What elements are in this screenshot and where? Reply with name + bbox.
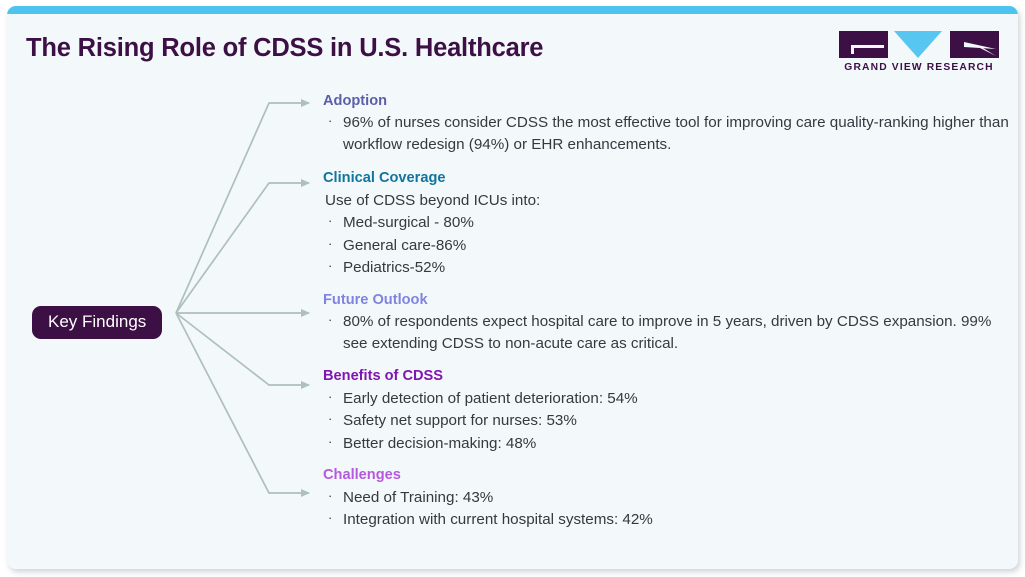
section-benefits-of-cdss: Benefits of CDSS · Early detection of pa… [323,367,1013,454]
list-item: · General care-86% [323,235,1013,257]
connector-adoption [176,103,309,313]
page-title: The Rising Role of CDSS in U.S. Healthca… [26,34,543,63]
bullet-dot-icon: · [328,487,332,505]
list-item: · Need of Training: 43% [323,487,1013,509]
bullet-dot-icon: · [328,388,332,406]
logo-wordmark: GRAND VIEW RESEARCH [839,62,999,73]
bullets-challenges: · Need of Training: 43% · Integration wi… [323,487,1013,531]
accent-top-bar [7,6,1018,14]
logo-r-icon [950,31,999,58]
section-intro-clinical-coverage: Use of CDSS beyond ICUs into: [323,190,1013,212]
bullet-dot-icon: · [328,433,332,451]
section-challenges: Challenges · Need of Training: 43% · Int… [323,466,1013,530]
list-item-text: Need of Training: 43% [343,489,493,506]
bullet-dot-icon: · [328,257,332,275]
section-clinical-coverage: Clinical Coverage Use of CDSS beyond ICU… [323,169,1013,279]
list-item: · Better decision-making: 48% [323,433,1013,455]
list-item: · Safety net support for nurses: 53% [323,410,1013,432]
list-item: · Early detection of patient deteriorati… [323,388,1013,410]
list-item: · 80% of respondents expect hospital car… [323,311,1013,354]
section-heading-clinical-coverage: Clinical Coverage [323,169,1013,187]
list-item: · Pediatrics-52% [323,257,1013,279]
bullet-dot-icon: · [328,311,332,329]
list-item-text: 80% of respondents expect hospital care … [343,313,991,352]
section-heading-adoption: Adoption [323,92,1013,110]
bullets-adoption: · 96% of nurses consider CDSS the most e… [323,112,1013,155]
list-item-text: Integration with current hospital system… [343,511,653,528]
section-heading-future-outlook: Future Outlook [323,291,1013,309]
section-adoption: Adoption · 96% of nurses consider CDSS t… [323,92,1013,155]
list-item-text: 96% of nurses consider CDSS the most eff… [343,114,1009,153]
list-item-text: Safety net support for nurses: 53% [343,412,577,429]
connector-challenges [176,313,309,493]
list-item: · Integration with current hospital syst… [323,509,1013,531]
connector-clinical [176,183,309,313]
bullet-dot-icon: · [328,509,332,527]
bullet-dot-icon: · [328,235,332,253]
section-heading-challenges: Challenges [323,466,1013,484]
list-item-text: General care-86% [343,237,466,254]
list-item-text: Better decision-making: 48% [343,435,536,452]
logo-g-icon [839,31,888,58]
list-item: · 96% of nurses consider CDSS the most e… [323,112,1013,155]
bullets-benefits-of-cdss: · Early detection of patient deteriorati… [323,388,1013,455]
logo-v-icon [894,31,942,58]
bullets-clinical-coverage: · Med-surgical - 80% · General care-86% … [323,212,1013,279]
bullet-dot-icon: · [328,112,332,130]
section-future-outlook: Future Outlook · 80% of respondents expe… [323,291,1013,354]
list-item-text: Med-surgical - 80% [343,214,474,231]
list-item-text: Early detection of patient deterioration… [343,390,638,407]
sections-container: Adoption · 96% of nurses consider CDSS t… [323,92,1013,533]
list-item: · Med-surgical - 80% [323,212,1013,234]
bullets-future-outlook: · 80% of respondents expect hospital car… [323,311,1013,354]
section-heading-benefits-of-cdss: Benefits of CDSS [323,367,1013,385]
bullet-dot-icon: · [328,410,332,428]
list-item-text: Pediatrics-52% [343,259,445,276]
key-findings-node[interactable]: Key Findings [32,306,162,339]
logo-marks [839,28,999,58]
connector-benefits [176,313,309,385]
infographic-card: The Rising Role of CDSS in U.S. Healthca… [7,6,1018,569]
bullet-dot-icon: · [328,212,332,230]
brand-logo: GRAND VIEW RESEARCH [839,28,999,80]
